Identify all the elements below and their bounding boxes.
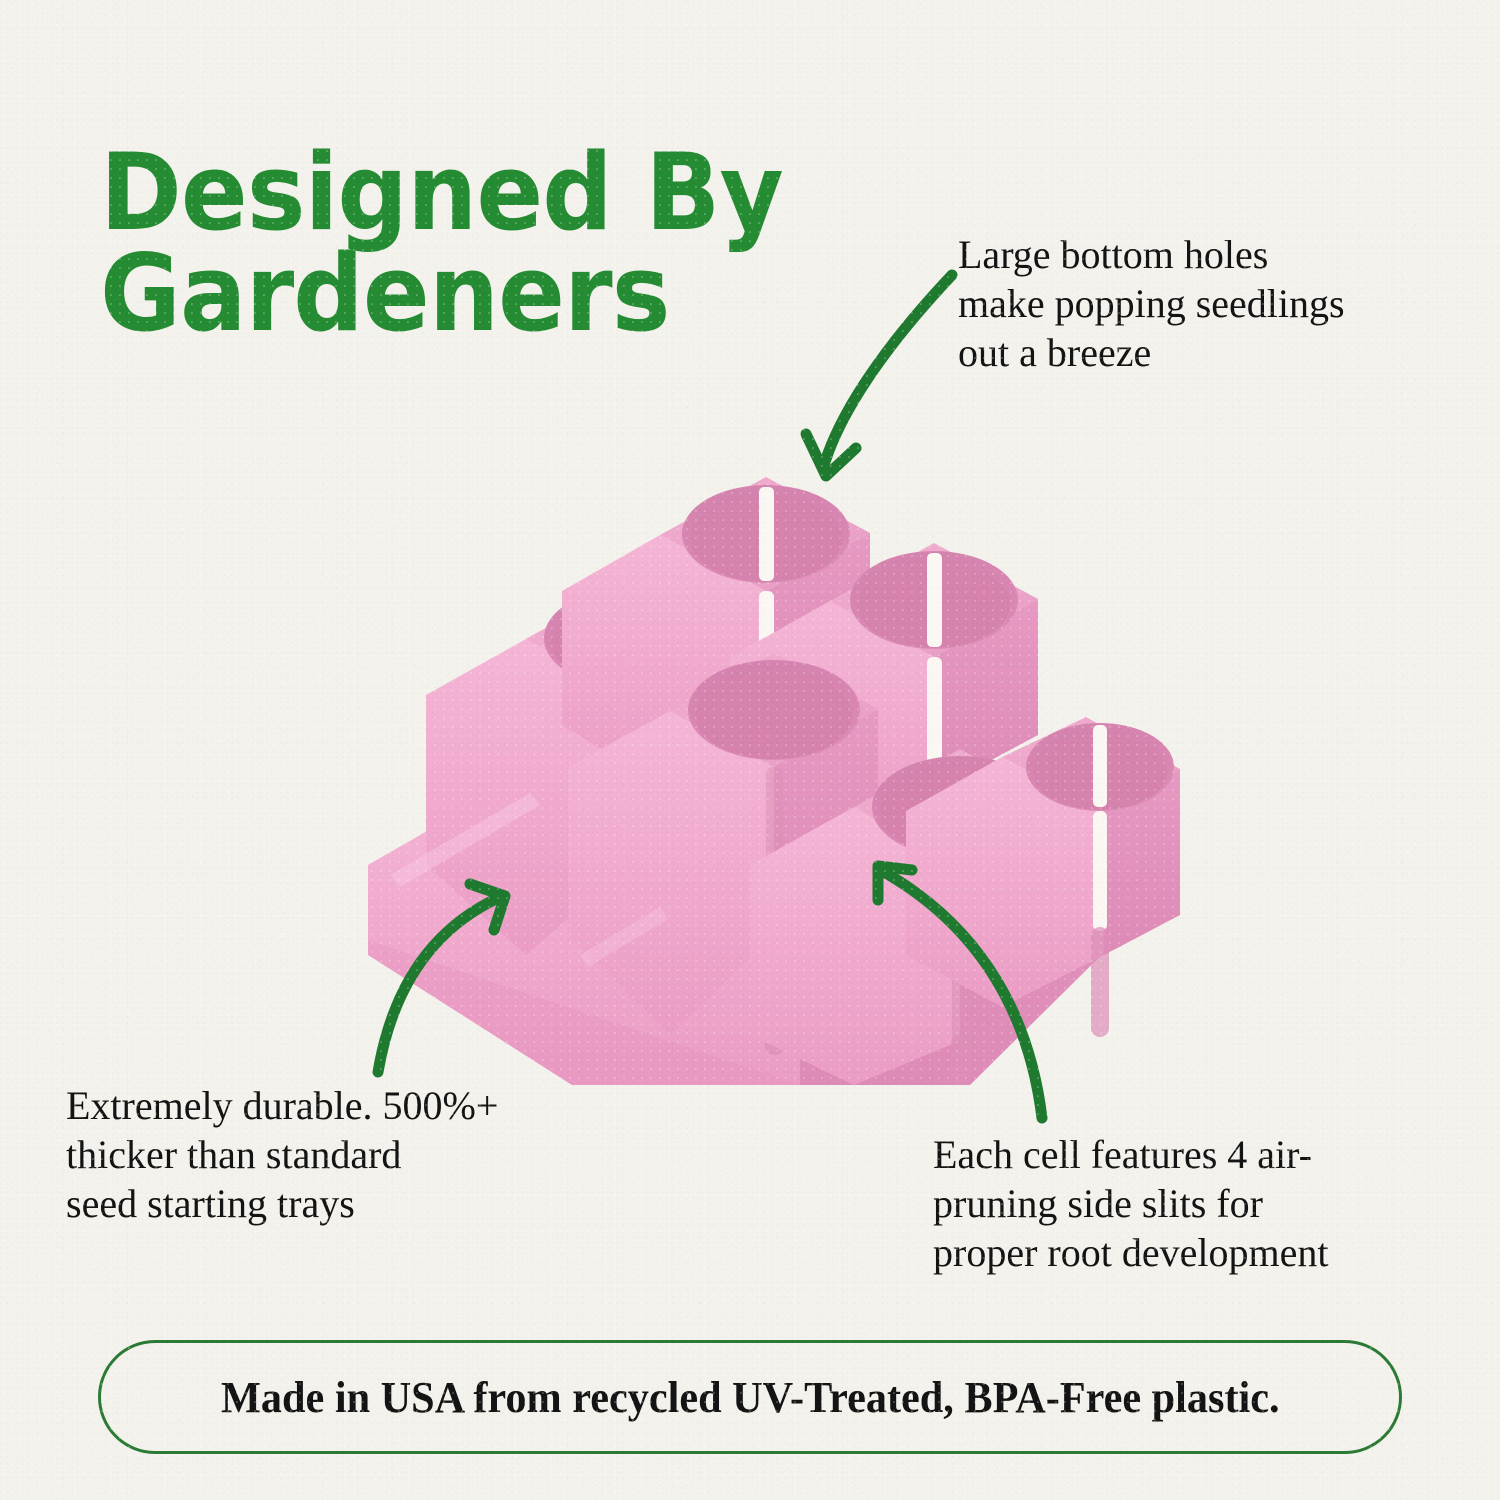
poster-canvas: Designed By Gardeners Large bottom holes…: [0, 0, 1500, 1500]
page-title: Designed By Gardeners: [100, 143, 872, 344]
caption-large-bottom-holes: Large bottom holes make popping seedling…: [958, 231, 1478, 377]
footer-banner-text: Made in USA from recycled UV-Treated, BP…: [221, 1372, 1280, 1423]
product-illustration: [330, 395, 1180, 1085]
caption-extremely-durable: Extremely durable. 500%+ thicker than st…: [66, 1082, 666, 1228]
caption-air-pruning-slits: Each cell features 4 air- pruning side s…: [933, 1131, 1473, 1277]
footer-banner: Made in USA from recycled UV-Treated, BP…: [98, 1340, 1402, 1454]
